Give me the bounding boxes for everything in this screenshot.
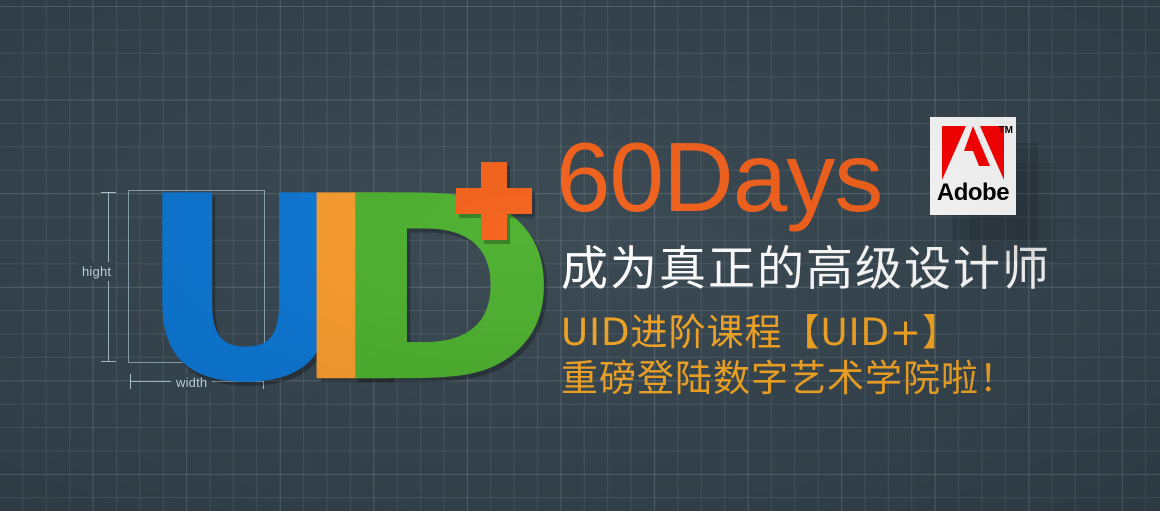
copy-area: 60Days 成为真正的高级设计师 UID进阶课程【UID+】 重磅登陆数字艺术… xyxy=(0,0,1160,511)
adobe-a-icon xyxy=(942,126,1004,180)
promo-line-1: UID进阶课程【UID+】 xyxy=(561,311,960,355)
headline-60days: 60Days xyxy=(556,128,882,226)
adobe-trademark-symbol: TM xyxy=(999,125,1013,136)
adobe-logo: Adobe TM xyxy=(930,117,1016,215)
adobe-wordmark: Adobe xyxy=(930,179,1016,207)
subheadline: 成为真正的高级设计师 xyxy=(561,243,1051,297)
promo-line-2: 重磅登陆数字艺术学院啦！ xyxy=(561,357,1017,401)
promo-banner: hight width U I D 60Days 成为真正的高级设计师 UID进… xyxy=(0,0,1160,511)
